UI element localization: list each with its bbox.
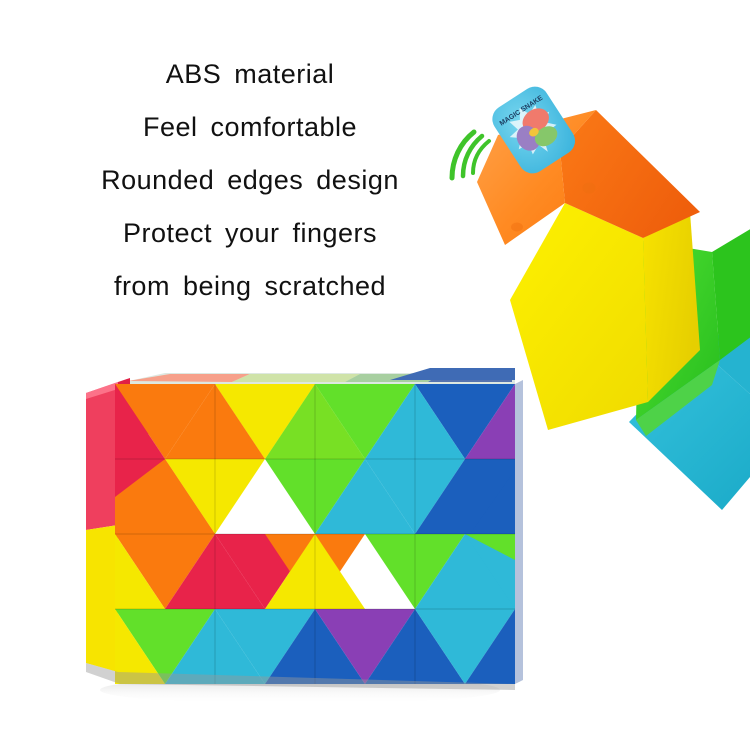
- sticker-starburst-icon: [499, 96, 567, 165]
- tri-r3c2-b: [165, 534, 265, 609]
- tri-r2c4-a: [365, 459, 465, 534]
- brand-sticker: MAGIC SNAKE: [487, 81, 580, 179]
- sticker-blob-green-icon: [531, 122, 561, 150]
- orange-top-face: [477, 110, 596, 245]
- cube-top-plate: [115, 373, 515, 384]
- green-side: [712, 228, 750, 360]
- copy-line-1: ABS material: [10, 48, 490, 101]
- left-face-red-inner: [118, 378, 130, 525]
- snake-assembly: MAGIC SNAKE: [452, 81, 750, 510]
- tri-r2c2-a: [165, 459, 265, 534]
- cube-top-face: [115, 368, 515, 384]
- tri-r2c1-c: [115, 459, 165, 497]
- tri-r1c2-b: [165, 384, 265, 459]
- tri-r2-left-red: [115, 459, 165, 497]
- sticker-background: [487, 81, 580, 179]
- orange-right-face: [560, 110, 700, 238]
- tri-r4c4-b: [415, 609, 515, 684]
- tri-r4c1-b: [115, 609, 165, 684]
- copy-line-3: Rounded edges design: [10, 154, 490, 207]
- tri-r3c1-a: [115, 534, 215, 609]
- product-promo-image: ABS material Feel comfortable Rounded ed…: [0, 0, 750, 750]
- mosaic-seams: [115, 384, 515, 684]
- cyan-face: [629, 349, 750, 510]
- tri-r1c3-a: [315, 384, 415, 459]
- cyan-top: [700, 300, 750, 430]
- copy-line-5: from being scratched: [10, 260, 490, 313]
- mosaic-row-3: [115, 534, 515, 609]
- tri-r1c1-a: [115, 384, 215, 459]
- snake-segment-green: [636, 228, 750, 436]
- snake-segment-head-orange: MAGIC SNAKE: [477, 81, 700, 430]
- tri-r4c3-a: [265, 609, 365, 684]
- tri-r1c3-b: [265, 384, 365, 459]
- tri-r1c4-c: [465, 384, 515, 459]
- dimple-mid-icon: [583, 183, 596, 194]
- tri-r2c4-c: [465, 459, 515, 534]
- sticker-blob-purple-icon: [512, 121, 545, 155]
- folded-cube-block: [86, 368, 523, 704]
- sticker-blob-red-icon: [518, 103, 553, 137]
- tri-r3c4-a: [365, 534, 465, 609]
- left-face-red: [86, 382, 118, 530]
- tri-r3c4-e: [465, 534, 515, 560]
- dimple-top-icon: [560, 137, 572, 147]
- sticker-blob-yellow-icon: [528, 126, 541, 138]
- tri-r3c4-d: [415, 534, 515, 609]
- tri-r3c1-b: [115, 534, 165, 609]
- dimple-lower-icon: [511, 223, 523, 232]
- tri-r2-left-bound: [115, 459, 165, 534]
- tri-r1c2-a: [215, 384, 315, 459]
- tri-r1c1-c: [115, 384, 165, 459]
- cube-bottom-edge: [86, 663, 515, 690]
- snake-segment-cyan: [629, 300, 750, 510]
- copy-line-4: Protect your fingers: [10, 207, 490, 260]
- left-face-red-highlight: [86, 382, 118, 399]
- mosaic-row-1: [115, 384, 515, 459]
- tri-r3c3-b: [265, 534, 365, 609]
- tri-r4c1-a: [115, 609, 215, 684]
- tri-r2c1-a: [115, 459, 165, 534]
- cube-right-edge: [515, 380, 523, 684]
- snake-segment-yellow: [510, 203, 700, 430]
- tri-r2-left-orange: [115, 459, 215, 534]
- tri-r4c4-a: [365, 609, 465, 684]
- sticker-wordmark: MAGIC SNAKE: [499, 94, 545, 127]
- tri-r4c2-b: [165, 609, 265, 684]
- tri-r2c4-b: [315, 459, 415, 534]
- mosaic-row-2: [115, 459, 515, 534]
- yellow-side: [643, 212, 700, 402]
- yellow-face: [510, 203, 648, 430]
- tri-r2c4-d: [415, 459, 515, 534]
- tri-r1-mid-yellow: [215, 384, 315, 459]
- cube-top-seg-c: [345, 374, 440, 382]
- cube-top-seg-blue: [390, 368, 515, 380]
- tri-r3c4-c: [465, 534, 515, 609]
- tri-r4c4-c: [465, 609, 515, 684]
- tri-r2c3-a: [265, 459, 365, 534]
- tri-r4c2-a: [215, 609, 315, 684]
- cube-top-seg-d: [428, 374, 512, 382]
- cube-top-seg-a: [128, 374, 250, 382]
- tri-r4c3-b: [315, 609, 415, 684]
- cube-shadow: [100, 676, 500, 704]
- tri-r2c1-b: [115, 459, 215, 534]
- green-face: [636, 240, 720, 420]
- cube-top-seg-b: [232, 374, 360, 382]
- green-lower-edge: [636, 360, 720, 436]
- tri-r3c2-a: [215, 534, 315, 609]
- marketing-copy-block: ABS material Feel comfortable Rounded ed…: [10, 48, 490, 313]
- tri-r1c4-b: [365, 384, 465, 459]
- cube-front-mosaic: [115, 384, 515, 684]
- tri-r1c4-a: [415, 384, 515, 459]
- tri-r1c1-b: [115, 384, 215, 459]
- cube-left-side-face: [86, 378, 130, 672]
- tri-r3c3-a: [265, 534, 365, 609]
- copy-line-2: Feel comfortable: [10, 101, 490, 154]
- left-face-yellow: [86, 525, 118, 672]
- mosaic-row-4: [115, 609, 515, 684]
